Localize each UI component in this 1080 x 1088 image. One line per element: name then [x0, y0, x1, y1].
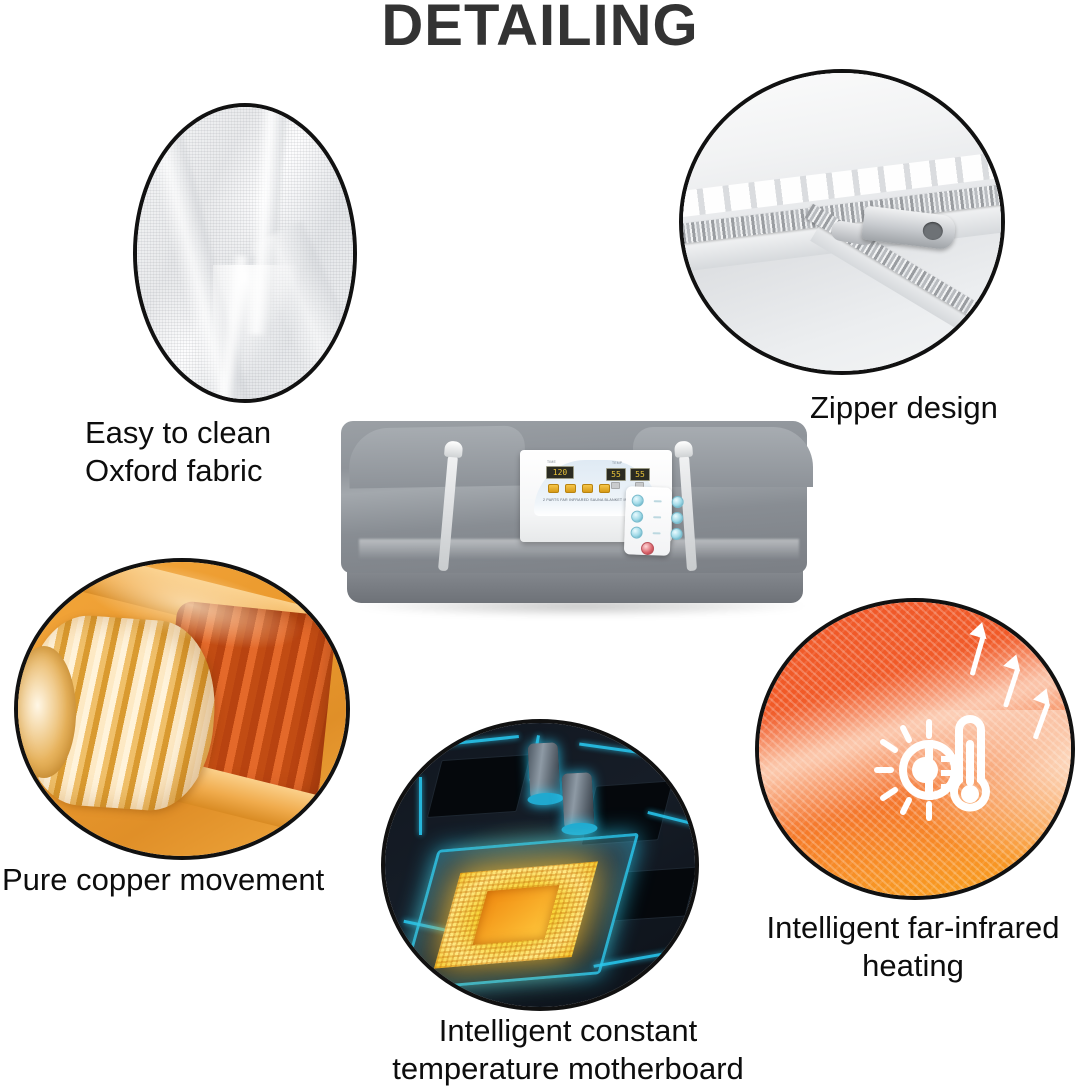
board-trace [443, 735, 519, 746]
motherboard-chip-icon [383, 721, 697, 1009]
remote-divider [653, 532, 661, 534]
copper-coil-end-cap [14, 646, 76, 778]
fabric-swatch-icon [135, 105, 355, 401]
board-capacitor [528, 742, 561, 799]
remote-button[interactable] [631, 494, 643, 506]
callout-label-copper-movement: Pure copper movement [2, 861, 324, 899]
panel-button[interactable] [599, 484, 610, 493]
callout-copper-movement [14, 558, 350, 860]
callout-oxford-fabric [133, 103, 357, 403]
led-display-temp-2: 55 [630, 468, 650, 481]
remote-divider [653, 516, 661, 518]
callout-zipper [679, 69, 1005, 375]
remote-button[interactable] [630, 526, 642, 538]
led-display-time: 120 [546, 466, 574, 479]
remote-button[interactable] [671, 496, 683, 508]
remote-button-row[interactable] [630, 526, 682, 540]
product-sauna-blanket: TIME TEMP 120 55 55 2 PARTS FAR INFRARED… [335, 413, 815, 628]
callout-label-motherboard: Intelligent constant temperature motherb… [363, 1012, 773, 1088]
control-panel-temp-label: TEMP [612, 461, 622, 465]
remote-button-row[interactable] [631, 494, 683, 508]
led-display-temp-1: 55 [606, 468, 626, 481]
led-time-value: 120 [547, 467, 573, 478]
board-capacitor [562, 772, 595, 829]
product-hump-left [348, 425, 525, 488]
led-temp-value-1: 55 [607, 469, 625, 480]
control-panel-time-label: TIME [547, 460, 556, 464]
zipper-icon [681, 71, 1003, 373]
product-wrinkle [359, 539, 799, 559]
remote-control[interactable] [624, 486, 672, 556]
callout-label-far-infrared-heating: Intelligent far-infrared heating [748, 909, 1078, 985]
board-trace [579, 743, 643, 755]
panel-button[interactable] [565, 484, 576, 493]
page-title: DETAILING [0, 0, 1080, 56]
far-infrared-fabric-background [757, 600, 1073, 898]
board-chip [427, 754, 532, 818]
copper-coil-icon [16, 560, 348, 858]
sun-thermometer-icon [867, 710, 1007, 830]
remote-button-row[interactable] [631, 510, 683, 524]
remote-button[interactable] [671, 512, 683, 524]
board-trace [419, 777, 422, 835]
panel-mini-button[interactable] [611, 482, 620, 489]
callout-motherboard [381, 719, 699, 1011]
remote-divider [654, 500, 662, 502]
board-trace [593, 949, 682, 968]
control-panel-button-row[interactable] [548, 484, 610, 493]
remote-power-button[interactable] [641, 542, 654, 555]
panel-button[interactable] [548, 484, 559, 493]
callout-label-oxford-fabric: Easy to clean Oxford fabric [85, 414, 271, 490]
callout-label-zipper: Zipper design [810, 389, 998, 427]
panel-button[interactable] [582, 484, 593, 493]
fabric-pinch-highlight [213, 265, 303, 385]
callout-far-infrared-heating [755, 598, 1075, 900]
remote-button[interactable] [670, 528, 682, 540]
remote-button[interactable] [631, 510, 643, 522]
led-temp-value-2: 55 [631, 469, 649, 480]
